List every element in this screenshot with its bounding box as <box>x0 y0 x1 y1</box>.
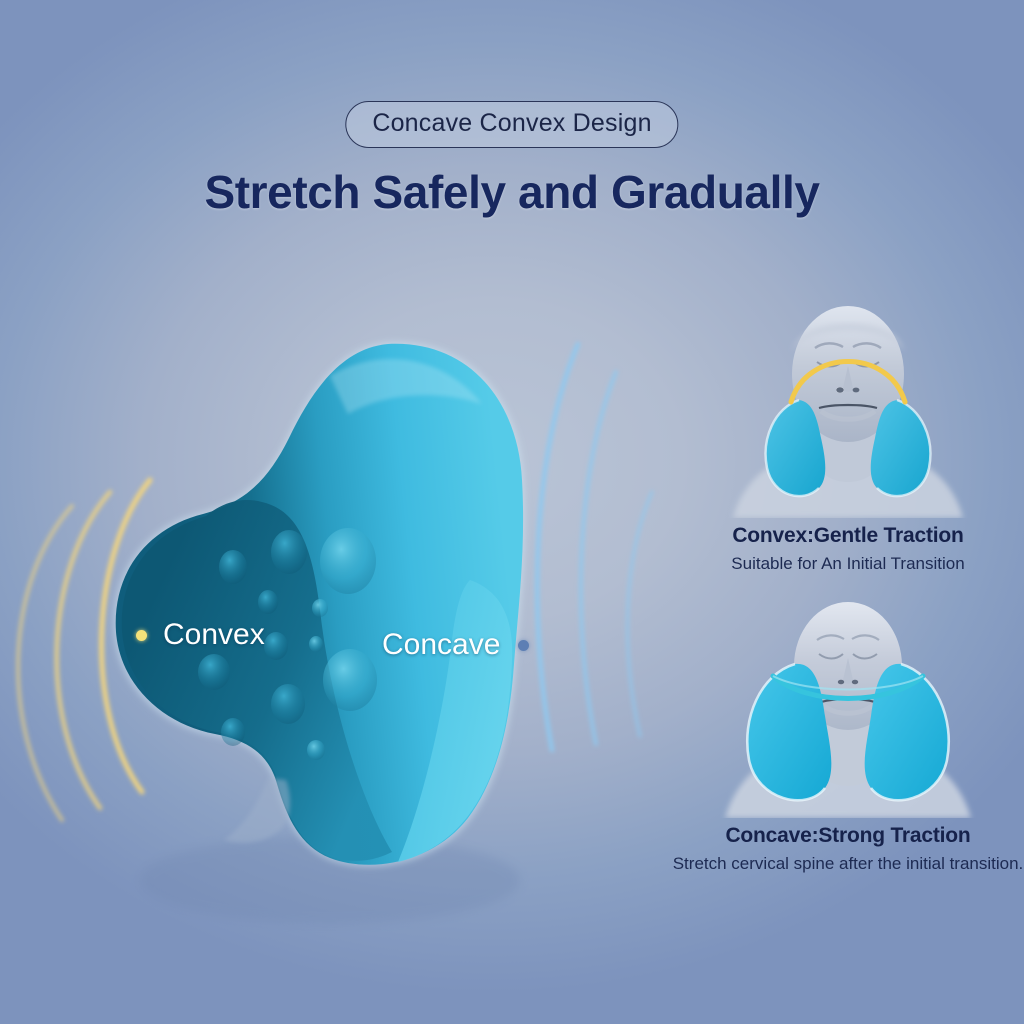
panel-concave-title: Concave:Strong Traction <box>672 824 1024 848</box>
convex-marker-dot <box>136 630 147 641</box>
panel-convex: Convex:Gentle Traction Suitable for An I… <box>672 290 1024 575</box>
panel-concave-subtitle: Stretch cervical spine after the initial… <box>672 853 1024 875</box>
pillow-illustration <box>0 280 672 960</box>
concave-wave-arcs <box>537 344 652 750</box>
pillow-body <box>114 342 525 867</box>
concave-label: Concave <box>382 628 500 662</box>
panel-convex-title: Convex:Gentle Traction <box>672 524 1024 548</box>
infographic-canvas: Concave Convex Design Stretch Safely and… <box>0 0 1024 1024</box>
design-badge: Concave Convex Design <box>345 101 678 148</box>
concave-face-illustration <box>703 590 993 818</box>
panel-convex-subtitle: Suitable for An Initial Transition <box>672 553 1024 575</box>
product-hero: Convex Concave <box>0 280 672 960</box>
usage-panels: Convex:Gentle Traction Suitable for An I… <box>672 290 1024 950</box>
concave-marker-dot <box>518 640 529 651</box>
convex-label: Convex <box>163 618 265 652</box>
convex-face-illustration <box>703 290 993 518</box>
page-title: Stretch Safely and Gradually <box>0 165 1024 219</box>
panel-concave: Concave:Strong Traction Stretch cervical… <box>672 590 1024 875</box>
